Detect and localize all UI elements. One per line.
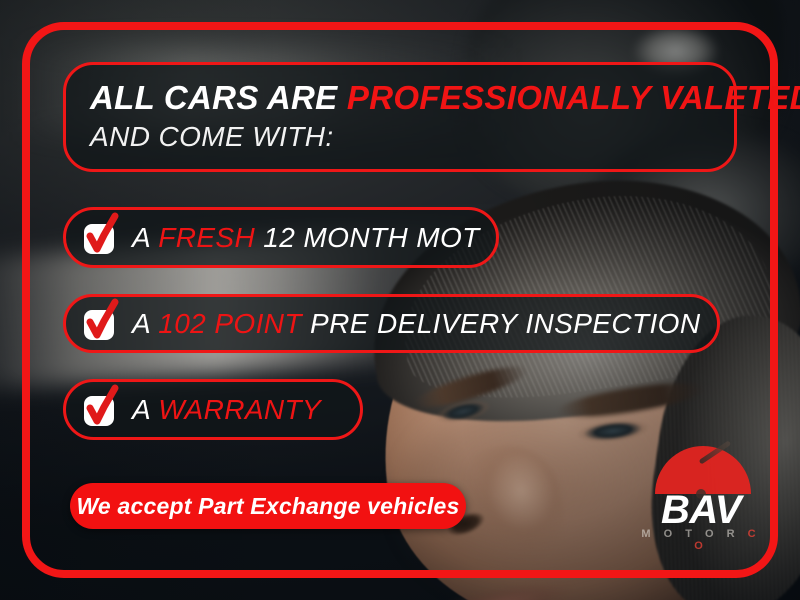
headline-line-2: AND COME WITH: [90, 121, 334, 153]
checkmark-glyph [82, 385, 126, 429]
checklist-1-prefix: A [132, 222, 158, 253]
checklist-item-mot[interactable]: A FRESH 12 MONTH MOT [63, 207, 499, 268]
checkbox-checked-icon [84, 221, 118, 255]
checklist-1-suffix: 12 MONTH MOT [255, 222, 480, 253]
headline-line-1-highlight: PROFESSIONALLY VALETED [347, 79, 800, 116]
headline-line-1-prefix: ALL CARS ARE [90, 79, 347, 116]
logo-wordmark: BAV [641, 490, 761, 530]
part-exchange-button-label: We accept Part Exchange vehicles [76, 493, 459, 520]
headline-line-1: ALL CARS ARE PROFESSIONALLY VALETED [90, 81, 800, 116]
banner-content: ALL CARS ARE PROFESSIONALLY VALETED AND … [0, 0, 800, 600]
bav-logo: BAV M O T O R C O [641, 446, 761, 546]
logo-tagline-motor: M O T O R [641, 528, 747, 540]
checklist-item-inspection[interactable]: A 102 POINT PRE DELIVERY INSPECTION [63, 294, 720, 353]
logo-tagline: M O T O R C O [641, 528, 761, 552]
checklist-1-highlight: FRESH [158, 222, 255, 253]
checkbox-checked-icon [84, 307, 118, 341]
checklist-3-highlight: WARRANTY [158, 394, 321, 425]
checkmark-glyph [82, 299, 126, 343]
part-exchange-button[interactable]: We accept Part Exchange vehicles [70, 483, 466, 529]
checklist-item-warranty-label: A WARRANTY [132, 394, 321, 426]
checklist-item-warranty[interactable]: A WARRANTY [63, 379, 363, 440]
checklist-item-mot-label: A FRESH 12 MONTH MOT [132, 222, 480, 254]
checkbox-checked-icon [84, 393, 118, 427]
checkmark-glyph [82, 213, 126, 257]
checklist-2-highlight: 102 POINT [158, 308, 302, 339]
promo-banner: ALL CARS ARE PROFESSIONALLY VALETED AND … [0, 0, 800, 600]
speedometer-dial-icon [655, 446, 751, 494]
headline-panel: ALL CARS ARE PROFESSIONALLY VALETED AND … [63, 62, 737, 172]
checklist-2-prefix: A [132, 308, 158, 339]
checklist-3-prefix: A [132, 394, 158, 425]
checklist-item-inspection-label: A 102 POINT PRE DELIVERY INSPECTION [132, 308, 700, 340]
checklist-2-suffix: PRE DELIVERY INSPECTION [302, 308, 701, 339]
